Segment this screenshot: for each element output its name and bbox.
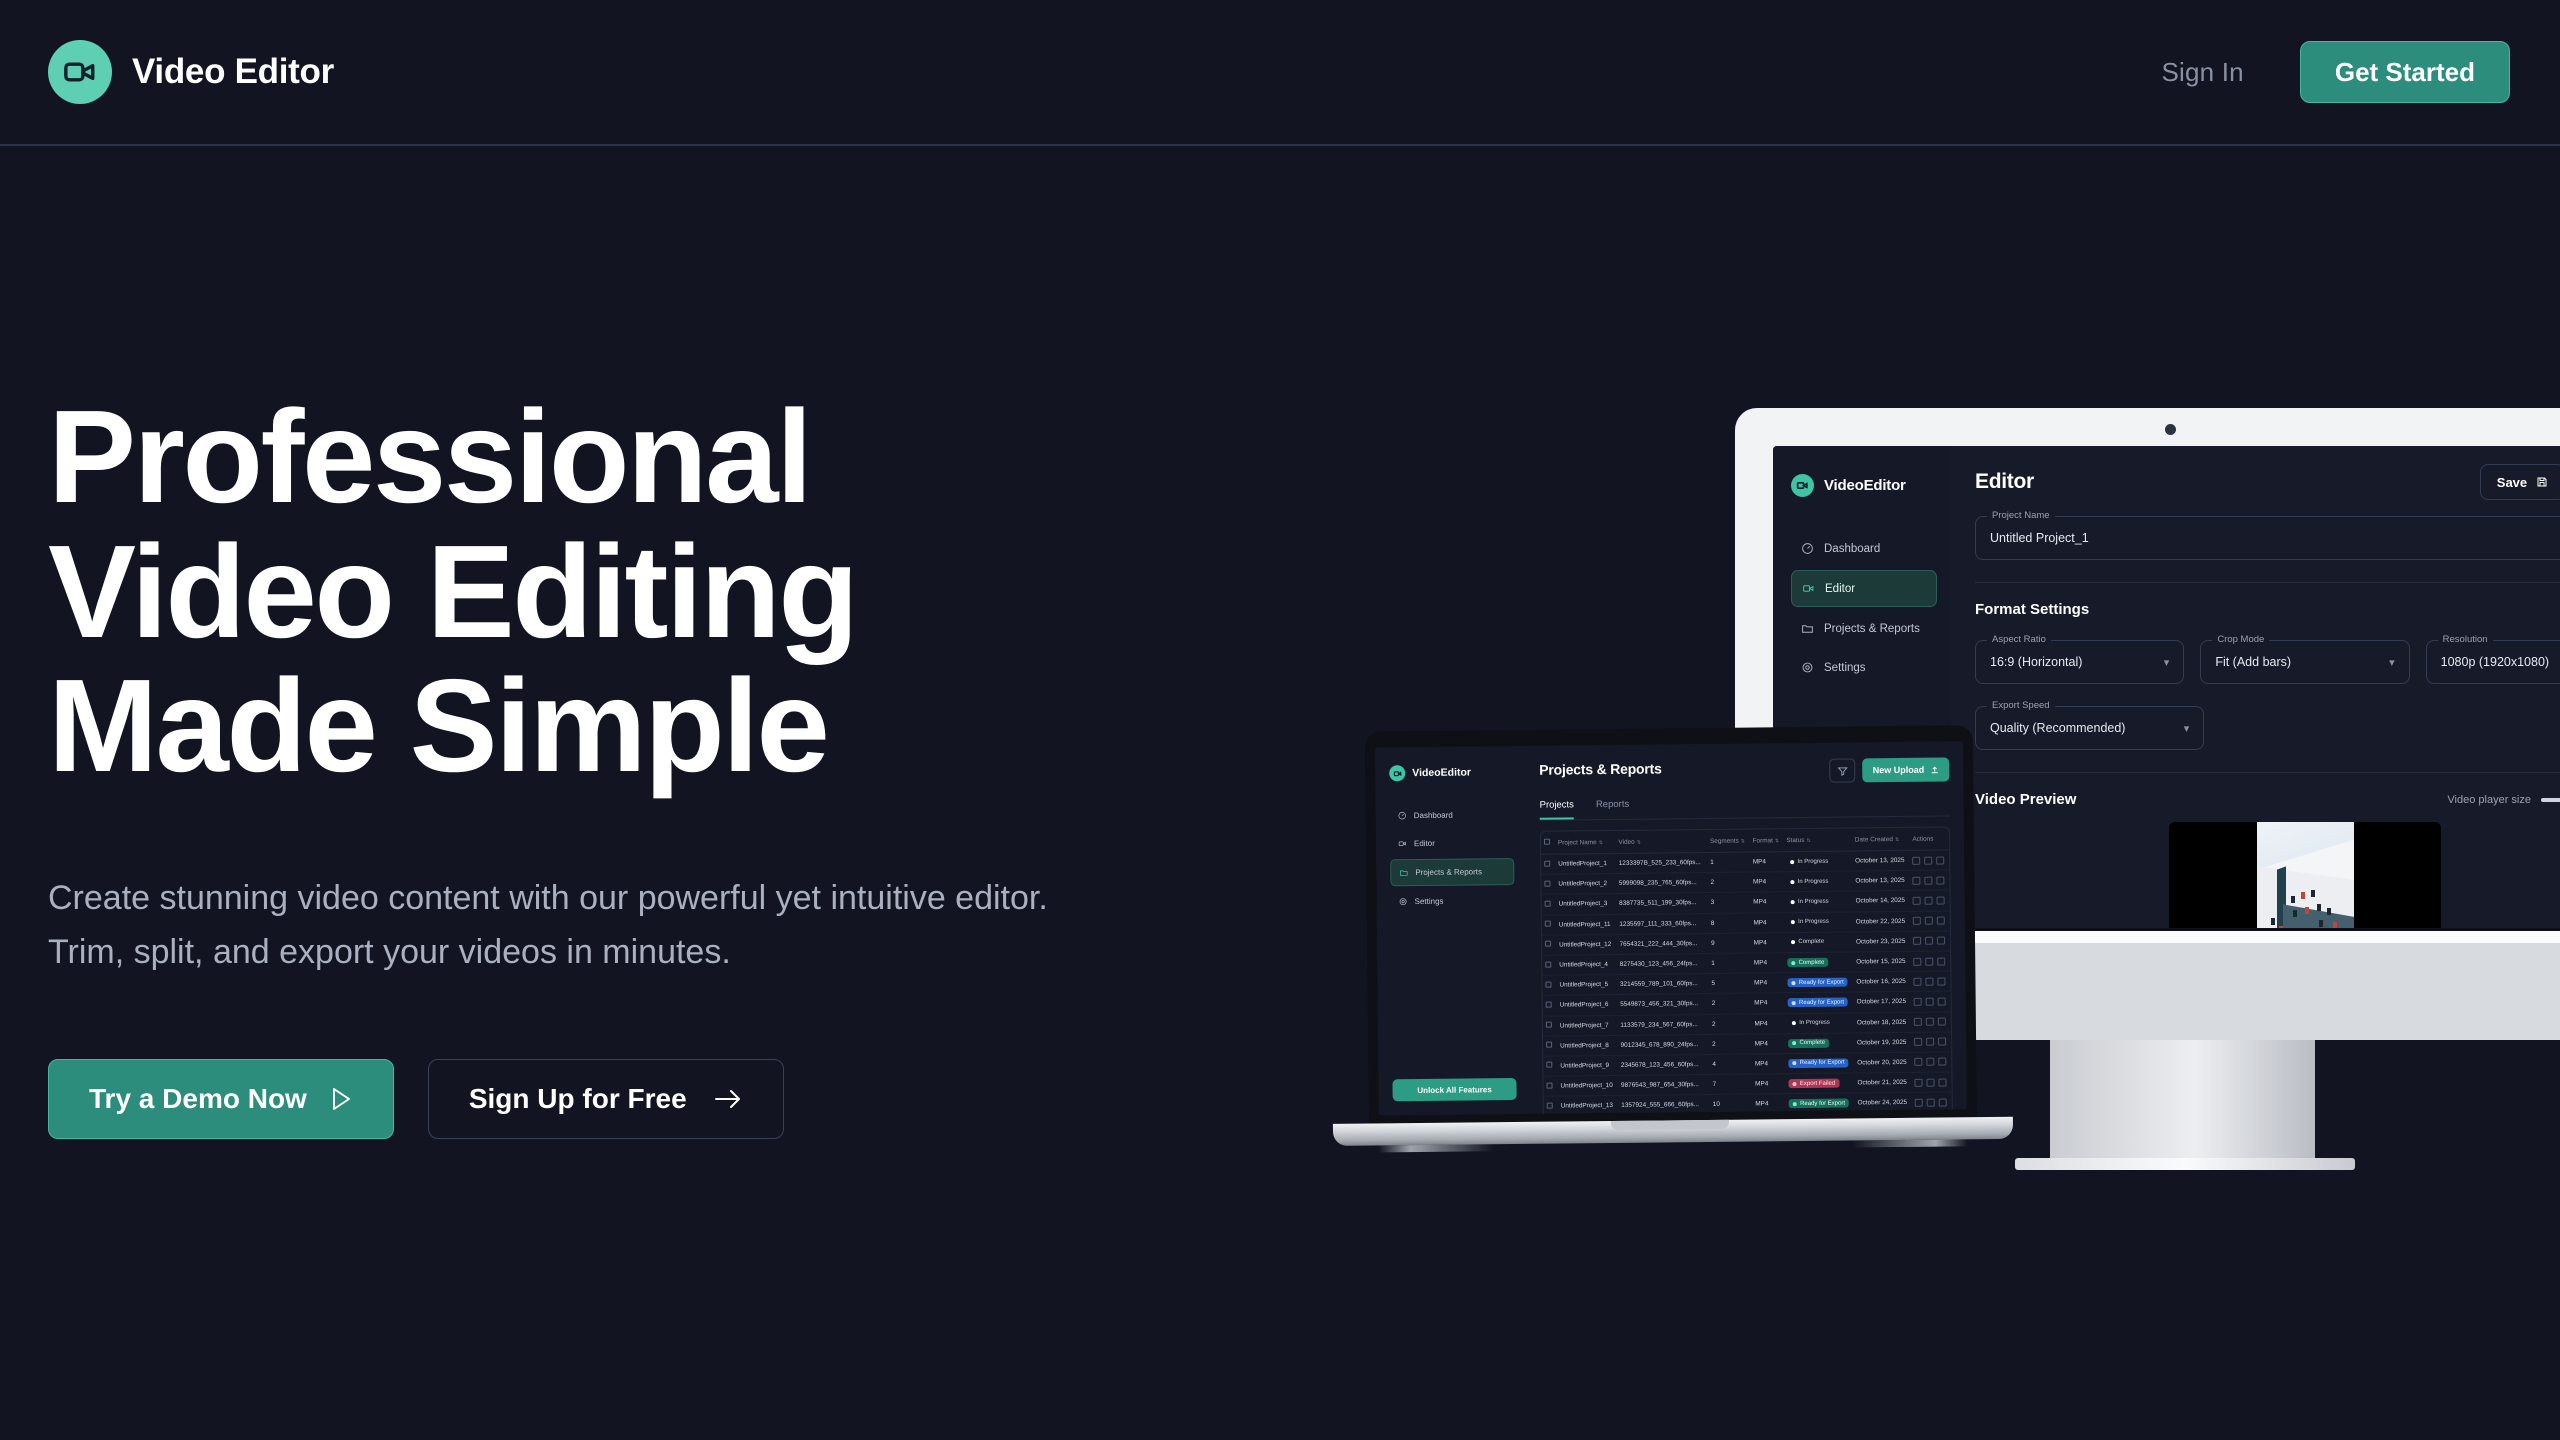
col-video[interactable]: Video⇅: [1615, 830, 1707, 853]
sign-in-button[interactable]: Sign In: [2161, 57, 2243, 88]
cell-format: MP4: [1751, 932, 1785, 953]
new-upload-label: New Upload: [1873, 765, 1925, 776]
video-player[interactable]: [2169, 822, 2441, 928]
cell-video: 1233397B_525_233_60fps...: [1616, 852, 1708, 873]
project-name-label: Project Name: [1987, 510, 2055, 521]
sidebar-label: Dashboard: [1824, 543, 1880, 555]
cell-format: MP4: [1750, 892, 1784, 913]
sidebar-item-dashboard[interactable]: Dashboard: [1791, 531, 1937, 566]
app-logo: VideoEditor: [1389, 764, 1513, 781]
video-camera-icon: [1398, 839, 1407, 848]
cell-date-created: October 16, 2025: [1853, 971, 1911, 992]
projects-toolbar: New Upload: [1830, 757, 1950, 782]
laptop-mockup: VideoEditor Dashboard Editor: [1365, 724, 2049, 1152]
cell-actions: [1912, 1112, 1952, 1115]
delete-icon[interactable]: [1938, 957, 1946, 965]
divider: [1975, 582, 2560, 583]
row-checkbox[interactable]: [1546, 1062, 1552, 1068]
cell-segments: 8: [1708, 913, 1751, 934]
download-icon[interactable]: [1927, 1078, 1935, 1086]
row-checkbox-cell[interactable]: [1543, 1076, 1557, 1096]
cell-segments: 4: [1709, 1054, 1752, 1075]
cell-format: MP4: [1752, 1054, 1786, 1075]
cell-project-name: UntitledProject_10: [1557, 1076, 1618, 1097]
edit-icon[interactable]: [1913, 917, 1921, 925]
projects-table: Project Name⇅ Video⇅ Segments⇅ Format⇅ S…: [1540, 826, 1954, 1115]
laptop-app-nav: Dashboard Editor Projects & Reports: [1390, 802, 1515, 914]
row-checkbox-cell[interactable]: [1541, 874, 1555, 894]
edit-icon[interactable]: [1914, 977, 1922, 985]
row-checkbox-cell[interactable]: [1542, 975, 1556, 995]
cell-status: In Progress: [1784, 891, 1853, 912]
editor-toolbar: Save Exp: [2480, 464, 2560, 500]
row-checkbox[interactable]: [1544, 880, 1550, 886]
site-header: Video Editor Sign In Get Started: [0, 0, 2560, 146]
play-triangle-icon: [329, 1086, 353, 1112]
cell-date-created: October 18, 2025: [1854, 1012, 1912, 1033]
edit-icon[interactable]: [1915, 1038, 1923, 1046]
arrow-right-icon: [713, 1088, 743, 1110]
row-checkbox[interactable]: [1545, 901, 1551, 907]
hero-cta-row: Try a Demo Now Sign Up for Free: [48, 1059, 1168, 1139]
sidebar-label: Editor: [1825, 583, 1855, 595]
format-settings-title: Format Settings: [1975, 601, 2560, 618]
monitor-stand-foot: [2015, 1158, 2355, 1170]
cell-video: 1235597_111_333_60fps...: [1616, 913, 1708, 934]
laptop-notch: [1561, 728, 1689, 743]
row-checkbox[interactable]: [1546, 1022, 1552, 1028]
cell-actions: [1911, 971, 1951, 992]
cell-status: In Progress: [1784, 912, 1853, 933]
hero-title-line-3: Made Simple: [48, 659, 1168, 794]
status-badge: Complete: [1787, 938, 1828, 947]
sidebar-item-editor[interactable]: Editor: [1791, 570, 1937, 607]
cell-status: Complete: [1784, 932, 1853, 953]
download-icon[interactable]: [1926, 1018, 1934, 1026]
cell-video: 9876543_987_654_30fps...: [1618, 1075, 1710, 1096]
cell-actions: [1910, 870, 1950, 891]
cell-actions: [1910, 911, 1950, 932]
format-settings-row-2: Export Speed Quality (Recommended) ▾: [1975, 684, 2560, 750]
save-label: Save: [2497, 475, 2527, 490]
table-row[interactable]: UntitledProject_131357924_555_666_60fps.…: [1544, 1092, 1952, 1115]
row-checkbox-cell[interactable]: [1542, 955, 1556, 975]
sidebar-item-projects-reports[interactable]: Projects & Reports: [1390, 858, 1514, 886]
download-icon[interactable]: [1927, 1098, 1935, 1106]
cell-format: MP4: [1751, 993, 1785, 1014]
aspect-ratio-label: Aspect Ratio: [1987, 634, 2051, 645]
resolution-select[interactable]: Resolution 1080p (1920x1080) ▾: [2426, 640, 2560, 684]
aspect-ratio-select[interactable]: Aspect Ratio 16:9 (Horizontal) ▾: [1975, 640, 2184, 684]
video-preview-header: Video Preview Video player size: [1975, 791, 2560, 808]
sidebar-label: Settings: [1415, 897, 1444, 906]
select-all-checkbox[interactable]: [1544, 839, 1550, 845]
laptop-lid: VideoEditor Dashboard Editor: [1365, 725, 1977, 1123]
cell-status: Complete: [1784, 952, 1853, 973]
video-camera-icon: [48, 40, 112, 104]
sidebar-label: Editor: [1414, 839, 1435, 848]
cell-project-name: UntitledProject_5: [1556, 975, 1617, 996]
cell-status: Ready for Export: [1785, 972, 1854, 993]
row-checkbox[interactable]: [1546, 1002, 1552, 1008]
cell-status: In Progress: [1785, 1012, 1854, 1033]
cell-actions: [1911, 991, 1951, 1012]
laptop-screen: VideoEditor Dashboard Editor: [1375, 741, 1967, 1115]
app-logo-text: VideoEditor: [1412, 766, 1471, 779]
edit-icon[interactable]: [1915, 1058, 1923, 1066]
cell-segments: 3: [1708, 892, 1751, 913]
cell-video: 1357924_555_666_60fps...: [1618, 1095, 1710, 1116]
row-checkbox-cell[interactable]: [1542, 935, 1556, 955]
edit-icon[interactable]: [1913, 937, 1921, 945]
cell-segments: 2: [1709, 1034, 1752, 1055]
floppy-disk-icon: [2536, 476, 2548, 488]
download-icon[interactable]: [1927, 1038, 1935, 1046]
cell-segments: 10: [1710, 1094, 1753, 1115]
tab-reports[interactable]: Reports: [1596, 799, 1629, 819]
row-checkbox-cell[interactable]: [1543, 1056, 1557, 1076]
cell-date-created: October 23, 2025: [1853, 931, 1911, 952]
row-checkbox[interactable]: [1545, 981, 1551, 987]
cell-segments: 1: [1708, 953, 1751, 974]
folder-icon: [1801, 622, 1814, 635]
sidebar-item-projects-reports[interactable]: Projects & Reports: [1791, 611, 1937, 646]
crop-mode-value: Fit (Add bars): [2215, 655, 2291, 669]
hero-title-line-2: Video Editing: [48, 525, 1168, 660]
video-preview-area: [1975, 822, 2560, 928]
cell-video: 8275430_123_456_24fps...: [1617, 953, 1709, 974]
cell-format: MP4: [1750, 912, 1784, 933]
brand-logo[interactable]: Video Editor: [48, 40, 334, 104]
cell-format: MP4: [1750, 872, 1784, 893]
save-button[interactable]: Save: [2480, 464, 2560, 500]
cell-video: 1133579_234_567_60fps...: [1617, 1014, 1709, 1035]
cell-video: 8387735_511_199_30fps...: [1616, 893, 1708, 914]
cell-video: 5999098_235_765_60fps...: [1616, 873, 1708, 894]
sidebar-label: Projects & Reports: [1824, 623, 1920, 635]
row-checkbox[interactable]: [1546, 1082, 1552, 1088]
download-icon[interactable]: [1926, 957, 1934, 965]
sidebar-label: Settings: [1824, 662, 1866, 674]
cell-date-created: October 14, 2025: [1852, 891, 1910, 912]
cell-segments: 5: [1708, 973, 1751, 994]
cell-segments: 9: [1708, 933, 1751, 954]
delete-icon[interactable]: [1939, 1078, 1947, 1086]
cell-status: Ready for Export: [1786, 1053, 1855, 1074]
download-icon[interactable]: [1925, 897, 1933, 905]
col-status[interactable]: Status⇅: [1783, 828, 1852, 851]
cell-format: MP4: [1750, 852, 1784, 873]
col-project-name[interactable]: Project Name⇅: [1555, 831, 1616, 854]
cell-segments: 7: [1709, 1074, 1752, 1095]
cell-project-name: UntitledProject_13: [1558, 1096, 1619, 1116]
cell-actions: [1910, 850, 1950, 871]
download-icon[interactable]: [1926, 998, 1934, 1006]
delete-icon[interactable]: [1938, 997, 1946, 1005]
cell-project-name: UntitledProject_12: [1556, 934, 1617, 955]
folder-icon: [1399, 868, 1408, 877]
cell-project-name: UntitledProject_3: [1556, 894, 1617, 915]
cell-status: Ready for Export: [1786, 1093, 1855, 1114]
cell-segments: 2: [1709, 993, 1752, 1014]
chevron-down-icon: ▾: [2184, 722, 2190, 735]
cell-date-created: October 24, 2025: [1855, 1093, 1913, 1114]
app-logo: VideoEditor: [1791, 474, 1937, 497]
export-speed-label: Export Speed: [1987, 700, 2055, 711]
get-started-button[interactable]: Get Started: [2300, 41, 2510, 103]
row-checkbox-cell[interactable]: [1543, 1016, 1557, 1036]
cell-status: In Progress: [1784, 871, 1853, 892]
webcam-icon: [2165, 424, 2176, 435]
cell-date-created: October 13, 2025: [1852, 871, 1910, 892]
cell-date-created: October 22, 2025: [1853, 911, 1911, 932]
cell-date-created: October 15, 2025: [1853, 951, 1911, 972]
hero-section: Professional Video Editing Made Simple C…: [48, 390, 1168, 1139]
upload-icon: [1930, 765, 1939, 774]
monitor-app-nav: Dashboard Editor Projects & Reports: [1791, 531, 1937, 685]
projects-header: Projects & Reports New Upload: [1539, 757, 1949, 785]
chevron-down-icon: ▾: [2164, 656, 2170, 669]
delete-icon[interactable]: [1937, 856, 1945, 864]
edit-icon[interactable]: [1914, 1018, 1922, 1026]
edit-icon[interactable]: [1914, 998, 1922, 1006]
aspect-ratio-value: 16:9 (Horizontal): [1990, 655, 2082, 669]
status-badge: Complete: [1788, 958, 1829, 967]
col-format[interactable]: Format⇅: [1749, 829, 1783, 852]
delete-icon[interactable]: [1939, 1038, 1947, 1046]
cell-format: MP4: [1752, 1074, 1786, 1095]
col-select[interactable]: [1541, 832, 1555, 855]
cell-actions: [1910, 931, 1950, 952]
laptop-app-main: Projects & Reports New Upload: [1523, 741, 1967, 1114]
funnel-icon[interactable]: [1830, 758, 1856, 782]
editor-page-title: Editor: [1975, 470, 2560, 494]
row-checkbox[interactable]: [1544, 860, 1550, 866]
col-date-created[interactable]: Date Created⇅: [1852, 828, 1910, 851]
edit-icon[interactable]: [1914, 957, 1922, 965]
status-badge: In Progress: [1787, 917, 1833, 926]
sign-up-free-label: Sign Up for Free: [469, 1083, 687, 1115]
cell-status: In Progress: [1783, 851, 1852, 872]
col-actions: Actions: [1909, 827, 1949, 850]
cell-segments: 2: [1709, 1014, 1752, 1035]
delete-icon[interactable]: [1938, 977, 1946, 985]
delete-icon[interactable]: [1937, 896, 1945, 904]
table-body: UntitledProject_11233397B_525_233_60fps.…: [1541, 850, 1953, 1115]
cell-video: 5549873_456_321_30fps...: [1617, 994, 1709, 1015]
cell-date-created: October 13, 2025: [1852, 850, 1910, 871]
unlock-all-features-button[interactable]: Unlock All Features: [1392, 1078, 1516, 1101]
edit-icon[interactable]: [1913, 877, 1921, 885]
row-checkbox-cell[interactable]: [1542, 915, 1556, 935]
download-icon[interactable]: [1926, 977, 1934, 985]
cell-actions: [1912, 1052, 1952, 1073]
app-logo-text: VideoEditor: [1824, 477, 1906, 494]
cell-video: 7654321_222_444_30fps...: [1616, 933, 1708, 954]
delete-icon[interactable]: [1939, 1098, 1947, 1106]
status-badge: Ready for Export: [1789, 1099, 1849, 1109]
gauge-icon: [1398, 811, 1407, 820]
delete-icon[interactable]: [1938, 1018, 1946, 1026]
divider: [1975, 772, 2560, 773]
laptop-app-sidebar: VideoEditor Dashboard Editor: [1375, 746, 1527, 1116]
resolution-label: Resolution: [2438, 634, 2493, 645]
cell-status: Export Failed: [1786, 1073, 1855, 1094]
cell-date-created: October 21, 2025: [1854, 1072, 1912, 1093]
row-checkbox-cell[interactable]: [1541, 854, 1555, 874]
cell-actions: [1911, 1032, 1951, 1053]
cell-format: MP4: [1752, 1033, 1786, 1054]
row-checkbox-cell[interactable]: [1544, 1096, 1558, 1115]
header-actions: Sign In Get Started: [2161, 41, 2510, 103]
projects-tabs: Projects Reports: [1540, 795, 1950, 820]
download-icon[interactable]: [1925, 937, 1933, 945]
delete-icon[interactable]: [1939, 1058, 1947, 1066]
status-badge: In Progress: [1787, 877, 1833, 886]
row-checkbox-cell[interactable]: [1543, 995, 1557, 1015]
format-settings-row-1: Aspect Ratio 16:9 (Horizontal) ▾ Crop Mo…: [1975, 618, 2560, 684]
hero-subtitle: Create stunning video content with our p…: [48, 872, 1108, 979]
cell-project-name: UntitledProject_9: [1557, 1055, 1618, 1076]
gear-icon: [1399, 897, 1408, 906]
edit-icon[interactable]: [1913, 856, 1921, 864]
cell-format: MP4: [1751, 953, 1785, 974]
row-checkbox[interactable]: [1547, 1102, 1553, 1108]
cell-video: 2345678_123_456_60fps...: [1618, 1054, 1710, 1075]
cell-segments: 2: [1707, 872, 1750, 893]
resolution-value: 1080p (1920x1080): [2441, 655, 2549, 669]
try-demo-button[interactable]: Try a Demo Now: [48, 1059, 394, 1139]
cell-video: 3214559_789_101_60fps...: [1617, 974, 1709, 995]
edit-icon[interactable]: [1913, 897, 1921, 905]
sidebar-item-settings[interactable]: Settings: [1791, 650, 1937, 685]
status-badge: Ready for Export: [1788, 998, 1848, 1008]
row-checkbox-cell[interactable]: [1542, 894, 1556, 914]
row-checkbox[interactable]: [1545, 961, 1551, 967]
edit-icon[interactable]: [1915, 1078, 1923, 1086]
sidebar-item-settings[interactable]: Settings: [1390, 888, 1514, 914]
sidebar-label: Projects & Reports: [1415, 867, 1482, 877]
cell-format: MP4: [1751, 1013, 1785, 1034]
delete-icon[interactable]: [1937, 937, 1945, 945]
cell-project-name: UntitledProject_1: [1555, 853, 1616, 874]
cell-date-created: October 25, 2025: [1855, 1113, 1913, 1116]
status-badge: Complete: [1788, 1039, 1829, 1048]
row-checkbox[interactable]: [1546, 1042, 1552, 1048]
tab-projects[interactable]: Projects: [1540, 799, 1575, 819]
brand-name: Video Editor: [132, 52, 334, 92]
crop-mode-label: Crop Mode: [2212, 634, 2269, 645]
edit-icon[interactable]: [1915, 1099, 1923, 1107]
chevron-down-icon: ▾: [2389, 656, 2395, 669]
cell-project-name: UntitledProject_7: [1557, 1015, 1618, 1036]
status-badge: Ready for Export: [1788, 978, 1848, 988]
slider-track[interactable]: [2541, 798, 2560, 802]
cell-actions: [1912, 1072, 1952, 1093]
video-player-size-label: Video player size: [2447, 794, 2531, 806]
cell-format: MP4: [1751, 973, 1785, 994]
new-upload-button[interactable]: New Upload: [1863, 757, 1950, 782]
cell-video: 9012345_678_890_24fps...: [1618, 1034, 1710, 1055]
video-frame-thumbnail: [2257, 822, 2354, 928]
download-icon[interactable]: [1925, 917, 1933, 925]
cell-date-created: October 19, 2025: [1854, 1032, 1912, 1053]
col-segments[interactable]: Segments⇅: [1707, 830, 1750, 853]
sign-up-free-button[interactable]: Sign Up for Free: [428, 1059, 784, 1139]
cell-project-name: UntitledProject_2: [1555, 874, 1616, 895]
video-camera-icon: [1802, 582, 1815, 595]
video-camera-icon: [1389, 765, 1405, 781]
row-checkbox[interactable]: [1545, 921, 1551, 927]
download-icon[interactable]: [1925, 856, 1933, 864]
cell-status: Ready for Export: [1785, 992, 1854, 1013]
download-icon[interactable]: [1925, 876, 1933, 884]
sidebar-item-editor[interactable]: Editor: [1390, 830, 1514, 856]
cell-format: MP4: [1752, 1114, 1786, 1115]
monitor-stand-neck: [2050, 1040, 2315, 1160]
cell-video: 2468135_777_888_24fps...: [1618, 1115, 1710, 1116]
video-camera-icon: [1791, 474, 1814, 497]
cell-actions: [1911, 951, 1951, 972]
video-player-size-slider[interactable]: Video player size: [2447, 794, 2560, 806]
cell-date-created: October 17, 2025: [1854, 992, 1912, 1013]
cell-segments: 1: [1707, 852, 1750, 873]
cell-project-name: UntitledProject_11: [1556, 914, 1617, 935]
try-demo-label: Try a Demo Now: [89, 1083, 307, 1115]
row-checkbox-cell[interactable]: [1543, 1036, 1557, 1056]
status-badge: In Progress: [1786, 857, 1832, 866]
cell-segments: 11: [1710, 1114, 1753, 1115]
status-badge: In Progress: [1787, 897, 1833, 906]
gauge-icon: [1801, 542, 1814, 555]
delete-icon[interactable]: [1937, 876, 1945, 884]
crop-mode-select[interactable]: Crop Mode Fit (Add bars) ▾: [2200, 640, 2409, 684]
sidebar-label: Dashboard: [1414, 811, 1453, 820]
cell-status: Complete: [1785, 1033, 1854, 1054]
gear-icon: [1801, 661, 1814, 674]
cell-project-name: UntitledProject_8: [1557, 1035, 1618, 1056]
cell-status: In Progress: [1786, 1113, 1855, 1115]
cell-format: MP4: [1752, 1094, 1786, 1115]
project-name-value: Untitled Project_1: [1990, 531, 2089, 545]
hero-title-line-1: Professional: [48, 390, 1168, 525]
cell-actions: [1911, 1011, 1951, 1032]
delete-icon[interactable]: [1937, 917, 1945, 925]
project-name-field[interactable]: Project Name Untitled Project_1: [1975, 516, 2560, 560]
cell-actions: [1910, 890, 1950, 911]
row-checkbox[interactable]: [1545, 941, 1551, 947]
cell-project-name: UntitledProject_6: [1557, 995, 1618, 1016]
projects-page-title: Projects & Reports: [1539, 760, 1662, 777]
cell-project-name: UntitledProject_4: [1556, 954, 1617, 975]
cell-actions: [1912, 1092, 1952, 1113]
download-icon[interactable]: [1927, 1058, 1935, 1066]
status-badge: In Progress: [1788, 1018, 1834, 1027]
page-title: Professional Video Editing Made Simple: [48, 390, 1168, 794]
sidebar-item-dashboard[interactable]: Dashboard: [1390, 802, 1514, 828]
cell-date-created: October 20, 2025: [1854, 1052, 1912, 1073]
status-badge: Export Failed: [1789, 1079, 1839, 1089]
status-badge: Ready for Export: [1789, 1058, 1849, 1068]
